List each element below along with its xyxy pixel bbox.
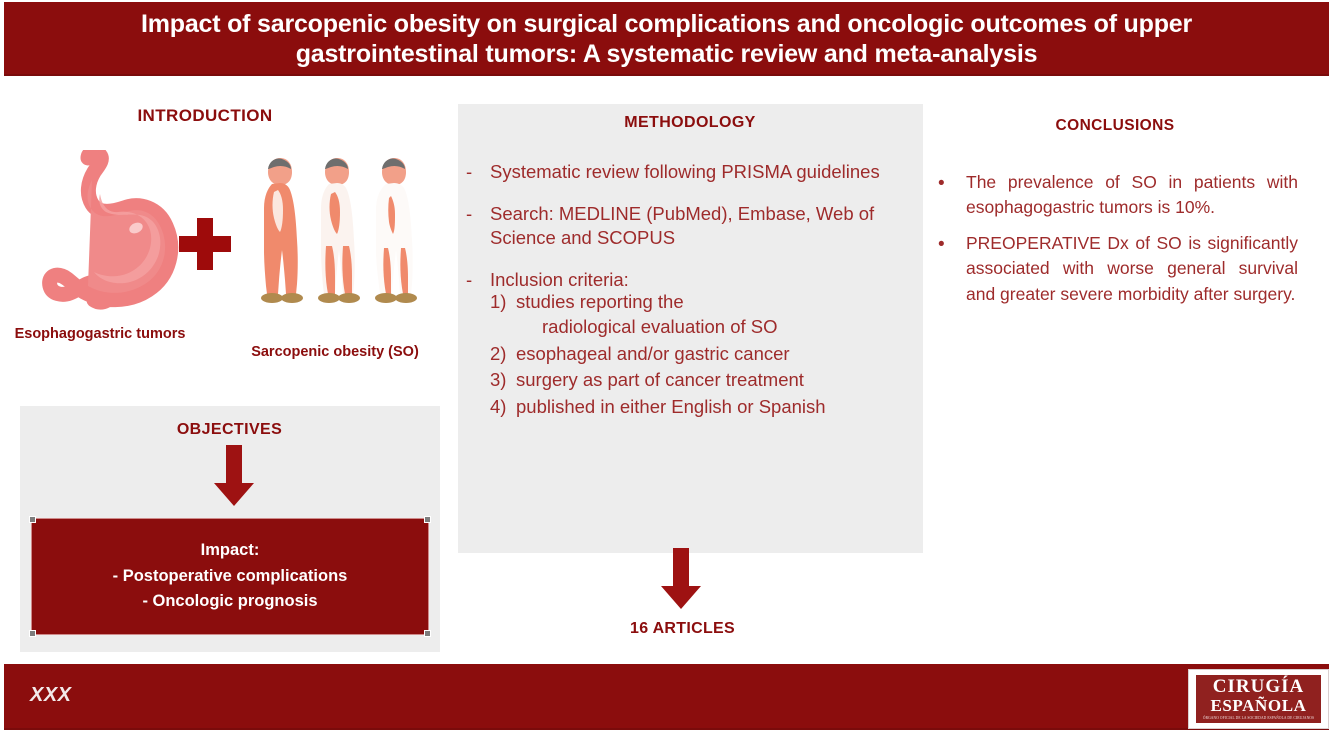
sarcopenic-obesity-caption: Sarcopenic obesity (SO) [240,343,430,362]
conclusion-text: The prevalence of SO in patients with es… [966,170,1298,221]
journal-logo-inner: CIRUGÍA ESPAÑOLA ÓRGANO OFICIAL DE LA SO… [1196,675,1321,723]
journal-logo-line1: CIRUGÍA [1213,677,1304,696]
footer-journal-placeholder: XXX [30,684,72,707]
criterion-item: 3) surgery as part of cancer treatment [490,368,924,393]
header-banner: Impact of sarcopenic obesity on surgical… [4,2,1329,76]
esophagogastric-tumors-caption: Esophagogastric tumors [10,325,190,344]
conclusion-item: • PREOPERATIVE Dx of SO is significantly… [938,231,1298,307]
conclusion-item: • The prevalence of SO in patients with … [938,170,1298,221]
methodology-item-text: Inclusion criteria: [490,268,924,293]
criterion-text: esophageal and/or gastric cancer [516,342,924,367]
criterion-item: 1) studies reporting the radiological ev… [490,290,924,339]
objectives-impact-text: Impact: - Postoperative complications - … [113,538,348,615]
down-arrow-icon [213,445,255,507]
down-arrow-icon [660,548,702,610]
body-composition-figures-icon [250,154,425,309]
criterion-item: 2) esophageal and/or gastric cancer [490,342,924,367]
conclusion-text: PREOPERATIVE Dx of SO is significantly a… [966,231,1298,307]
graphical-abstract-page: Impact of sarcopenic obesity on surgical… [0,0,1333,735]
resize-handle-top-left[interactable] [29,516,36,523]
journal-logo-subtitle: ÓRGANO OFICIAL DE LA SOCIEDAD ESPAÑOLA D… [1203,717,1314,721]
journal-logo-line2: ESPAÑOLA [1210,697,1306,714]
journal-logo: CIRUGÍA ESPAÑOLA ÓRGANO OFICIAL DE LA SO… [1188,669,1329,729]
criterion-text-line2: radiological evaluation of SO [516,315,924,340]
introduction-heading: INTRODUCTION [60,106,350,126]
articles-count-label: 16 ARTICLES [560,620,805,638]
bullet-icon: • [938,170,966,221]
criterion-text-line1: studies reporting the [516,291,684,312]
criterion-text: published in either English or Spanish [516,395,924,420]
criterion-text: surgery as part of cancer treatment [516,368,924,393]
footer-banner [4,664,1329,730]
objectives-line-3: - Oncologic prognosis [113,589,348,615]
conclusions-heading: CONCLUSIONS [940,117,1290,135]
introduction-figure-group: Esophagogastric tumors Sarcopenic obesit… [0,140,440,390]
methodology-item: - Search: MEDLINE (PubMed), Embase, Web … [462,202,924,251]
criterion-number: 1) [490,290,516,339]
objectives-line-1: Impact: [113,538,348,564]
plus-icon [176,215,234,273]
objectives-heading: OBJECTIVES [22,421,437,439]
resize-handle-top-right[interactable] [424,516,431,523]
objectives-line-2: - Postoperative complications [113,564,348,590]
inclusion-criteria-list: 1) studies reporting the radiological ev… [462,290,924,419]
conclusions-list: • The prevalence of SO in patients with … [938,170,1298,317]
criterion-item: 4) published in either English or Spanis… [490,395,924,420]
methodology-item-text: Search: MEDLINE (PubMed), Embase, Web of… [490,202,924,251]
methodology-heading: METHODOLOGY [460,114,920,132]
resize-handle-bottom-right[interactable] [424,630,431,637]
methodology-item: - Systematic review following PRISMA gui… [462,160,924,185]
stomach-icon [36,150,186,315]
methodology-item-text: Systematic review following PRISMA guide… [490,160,924,185]
methodology-marker: - [462,202,490,251]
criterion-number: 3) [490,368,516,393]
page-title: Impact of sarcopenic obesity on surgical… [77,9,1257,70]
methodology-marker: - [462,160,490,185]
objectives-impact-box: Impact: - Postoperative complications - … [31,518,429,635]
methodology-item: - Inclusion criteria: [462,268,924,293]
bullet-icon: • [938,231,966,307]
methodology-list: - Systematic review following PRISMA gui… [462,160,924,421]
criterion-number: 4) [490,395,516,420]
criterion-number: 2) [490,342,516,367]
methodology-marker: - [462,268,490,293]
resize-handle-bottom-left[interactable] [29,630,36,637]
criterion-text: studies reporting the radiological evalu… [516,290,924,339]
